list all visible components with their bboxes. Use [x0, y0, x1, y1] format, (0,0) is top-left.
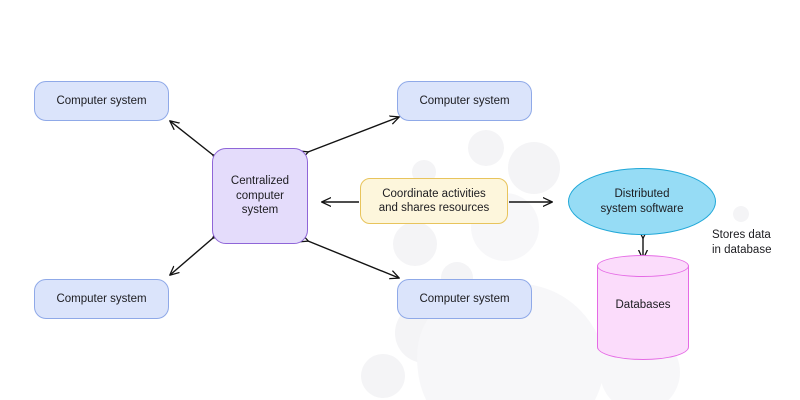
node-coordinate-activities[interactable]: Coordinate activities and shares resourc… — [360, 178, 508, 224]
node-label-line-2: and shares resources — [379, 201, 490, 215]
node-label: Computer system — [419, 94, 509, 108]
node-computer-system-top-left[interactable]: Computer system — [34, 81, 169, 121]
node-label: Computer system — [56, 94, 146, 108]
node-label-block: Distributed system software — [600, 187, 683, 216]
annotation-line-1: Stores data — [712, 228, 796, 243]
node-label: Databases — [597, 299, 689, 311]
cylinder-body — [597, 266, 689, 360]
diagram-canvas: Computer system Computer system Computer… — [0, 0, 800, 400]
node-computer-system-bottom-right[interactable]: Computer system — [397, 279, 532, 319]
node-label-block: Centralized computer system — [231, 174, 289, 217]
node-label-line-1: Centralized — [231, 174, 289, 188]
annotation-line-2: in database — [712, 243, 796, 258]
node-label-line-2: system software — [600, 202, 683, 216]
node-computer-system-bottom-left[interactable]: Computer system — [34, 279, 169, 319]
node-label-block: Coordinate activities and shares resourc… — [379, 187, 490, 216]
node-distributed-system-software[interactable]: Distributed system software — [568, 168, 716, 235]
node-centralized-computer-system[interactable]: Centralized computer system — [212, 148, 308, 244]
node-label-line-1: Coordinate activities — [379, 187, 490, 201]
node-databases-cylinder[interactable]: Databases — [597, 255, 689, 360]
node-label-line-1: Distributed — [600, 187, 683, 201]
annotation-stores-data: Stores data in database — [712, 228, 796, 258]
node-label: Computer system — [56, 292, 146, 306]
node-label: Computer system — [419, 292, 509, 306]
node-label-line-3: system — [231, 203, 289, 217]
cylinder-top-ellipse — [597, 255, 689, 277]
node-label-line-2: computer — [231, 189, 289, 203]
node-computer-system-top-right[interactable]: Computer system — [397, 81, 532, 121]
